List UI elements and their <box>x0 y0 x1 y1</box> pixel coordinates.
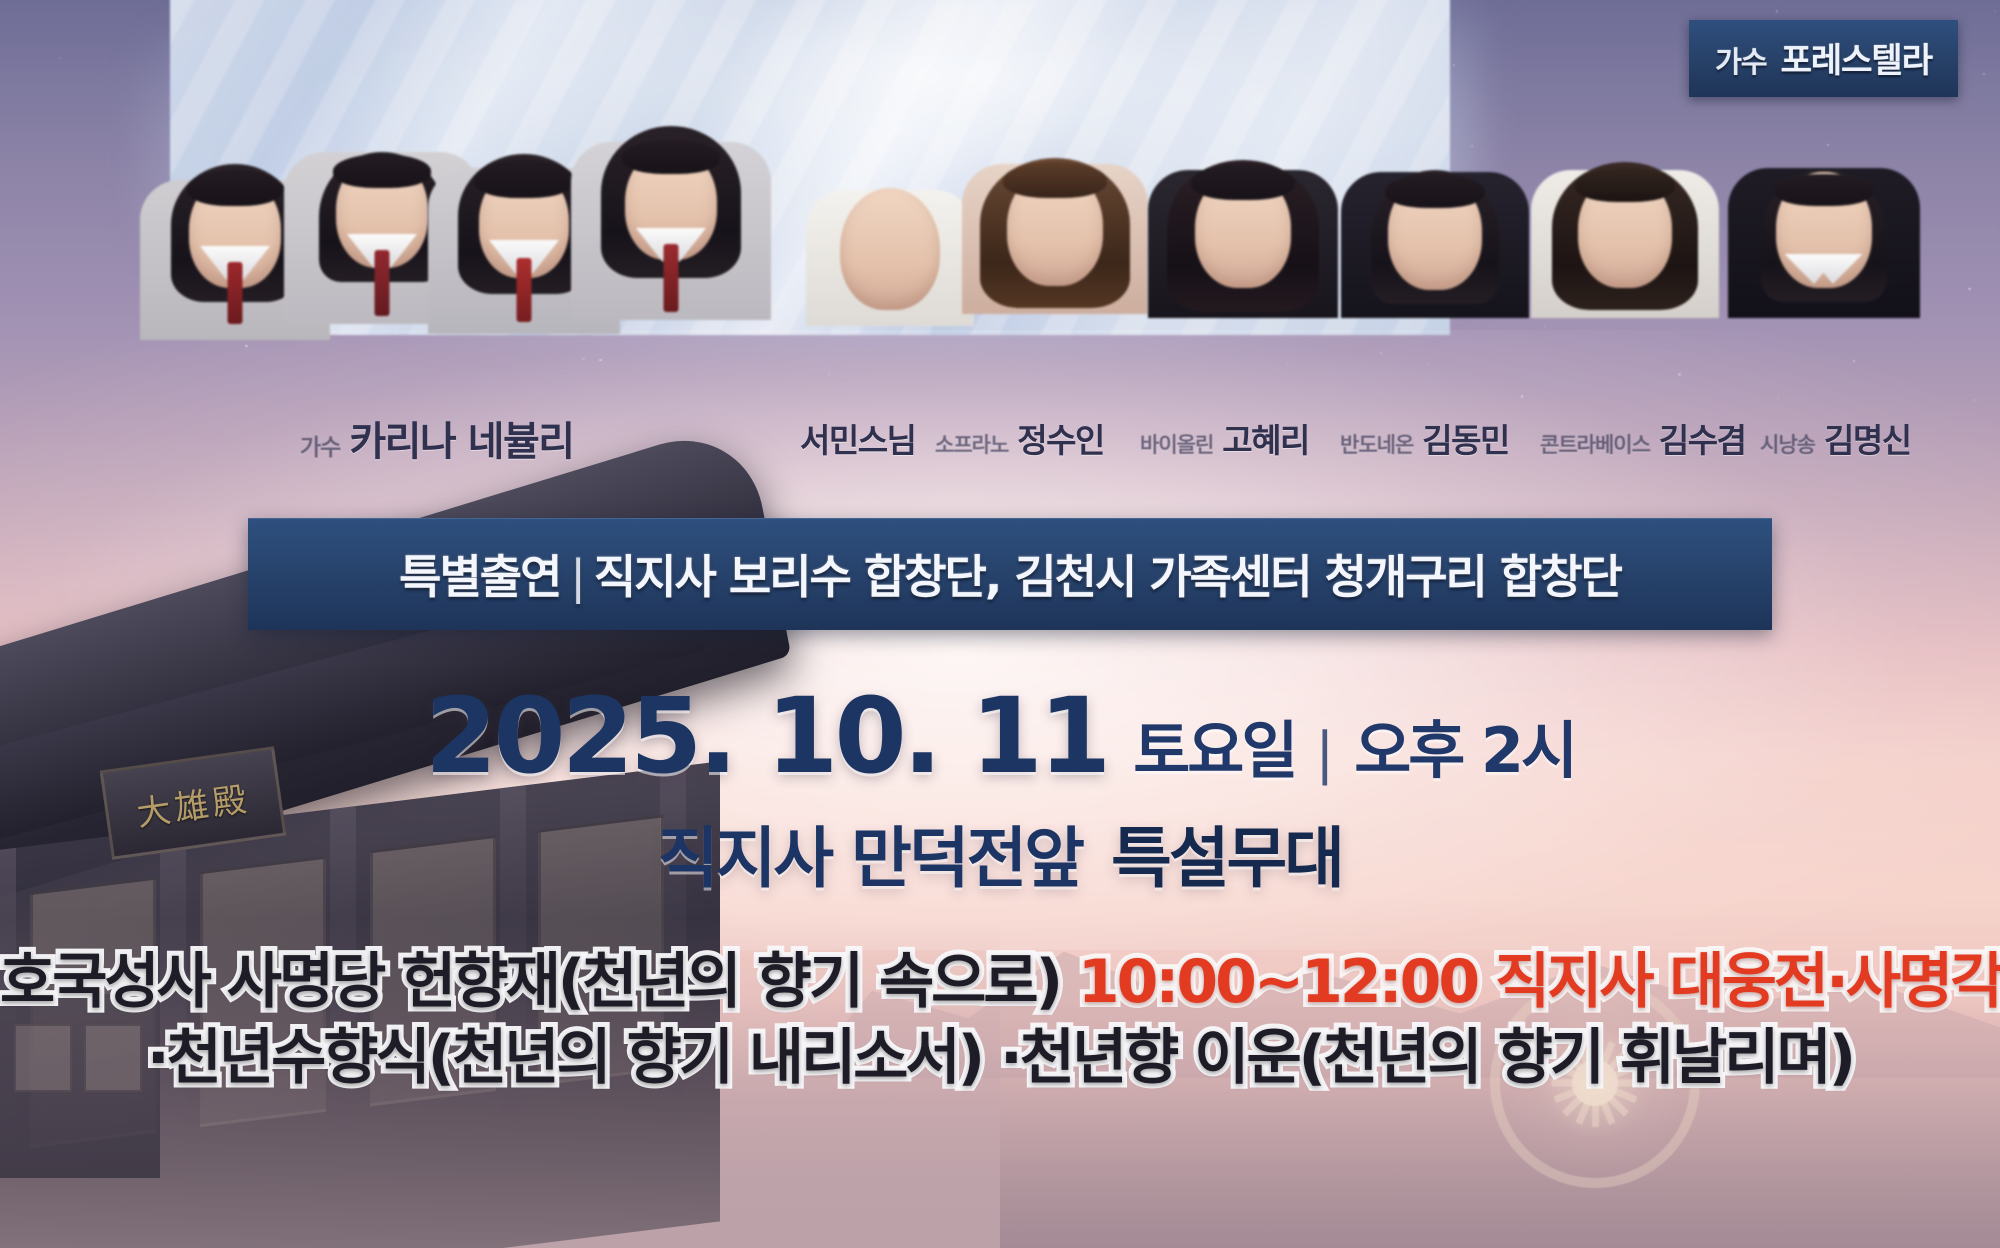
schedule-line-1: 호국성사 사명당 헌향재(천년의 향기 속으로) 10:00~12:00 직지사… <box>0 948 2000 1018</box>
credit-name: 카리나 네뷸리 <box>349 419 573 465</box>
event-poster: 大雄殿 <box>0 0 2000 1248</box>
schedule-line-2: ·천년수향식(천년의 향기 내리소서) ·천년향 이운(천년의 향기 휘날리며) <box>0 1024 2000 1094</box>
schedule-block: 호국성사 사명당 헌향재(천년의 향기 속으로) 10:00~12:00 직지사… <box>0 948 2000 1093</box>
credit-role: 반도네온 <box>1340 433 1413 457</box>
credit-item-1: 가수카리나 네뷸리 <box>300 409 574 467</box>
banner-divider: | <box>570 550 584 604</box>
headliner-role: 가수 <box>1715 39 1766 81</box>
credit-role: 콘트라베이스 <box>1540 433 1650 457</box>
performer-cutout-soprano <box>950 164 1160 420</box>
event-date-line: 2025. 10. 11 토요일 | 오후 2시 <box>0 675 2000 797</box>
event-day-of-week: 토요일 <box>1133 700 1295 790</box>
schedule-time-location: 10:00~12:00 직지사 대웅전·사명각 <box>1078 947 2000 1017</box>
event-venue-line: 직지사 만덕전앞 특설무대 <box>0 805 2000 901</box>
special-guest-label: 특별출연 <box>399 550 560 604</box>
credit-item-4: 바이올린고혜리 <box>1140 414 1309 462</box>
credit-name: 정수인 <box>1017 421 1104 460</box>
credit-name: 김수겸 <box>1659 421 1746 460</box>
credit-item-3: 소프라노정수인 <box>935 414 1104 462</box>
credit-item-7: 시낭송김명신 <box>1760 414 1911 462</box>
headliner-name: 포레스텔라 <box>1781 33 1932 82</box>
credit-role: 가수 <box>300 435 340 461</box>
credit-item-5: 반도네온김동민 <box>1340 414 1509 462</box>
credit-role: 소프라노 <box>935 433 1008 457</box>
event-date: 2025. 10. 11 <box>425 675 1107 797</box>
credit-name: 고혜리 <box>1222 421 1309 460</box>
performer-cutout-reciter <box>1716 168 1931 420</box>
credits-row: 가수카리나 네뷸리서민스님소프라노정수인바이올린고혜리반도네온김동민콘트라베이스… <box>0 404 2000 472</box>
special-guest-groups: 직지사 보리수 합창단, 김천시 가족센터 청개구리 합창단 <box>594 550 1621 604</box>
credit-role: 바이올린 <box>1140 433 1213 457</box>
headliner-badge: 가수 포레스텔라 <box>1689 20 1958 97</box>
credit-role: 시낭송 <box>1760 433 1815 457</box>
schedule-sub-events: ·천년수향식(천년의 향기 내리소서) ·천년향 이운(천년의 향기 휘날리며) <box>147 1023 1853 1093</box>
credit-item-2: 서민스님 <box>800 414 915 462</box>
schedule-ritual-name: 호국성사 사명당 헌향재(천년의 향기 속으로) <box>0 947 1060 1017</box>
credit-name: 서민스님 <box>800 421 915 460</box>
performer-cutout-contrabass <box>1520 170 1730 420</box>
performer-cutout-4 <box>556 142 786 420</box>
performer-cutout-violin <box>1135 170 1350 420</box>
credit-item-6: 콘트라베이스김수겸 <box>1540 414 1746 462</box>
venue-stage: 특설무대 <box>1111 820 1342 897</box>
credit-name: 김동민 <box>1422 421 1509 460</box>
event-time: 오후 2시 <box>1354 700 1575 790</box>
date-time-divider: | <box>1315 721 1334 786</box>
special-guest-banner: 특별출연|직지사 보리수 합창단, 김천시 가족센터 청개구리 합창단 <box>248 518 1772 630</box>
credit-name: 김명신 <box>1824 421 1911 460</box>
performer-cutout-bandoneon <box>1330 172 1540 420</box>
credits-strip: 가수카리나 네뷸리서민스님소프라노정수인바이올린고혜리반도네온김동민콘트라베이스… <box>0 404 2000 472</box>
venue-place: 직지사 만덕전앞 <box>658 820 1082 897</box>
